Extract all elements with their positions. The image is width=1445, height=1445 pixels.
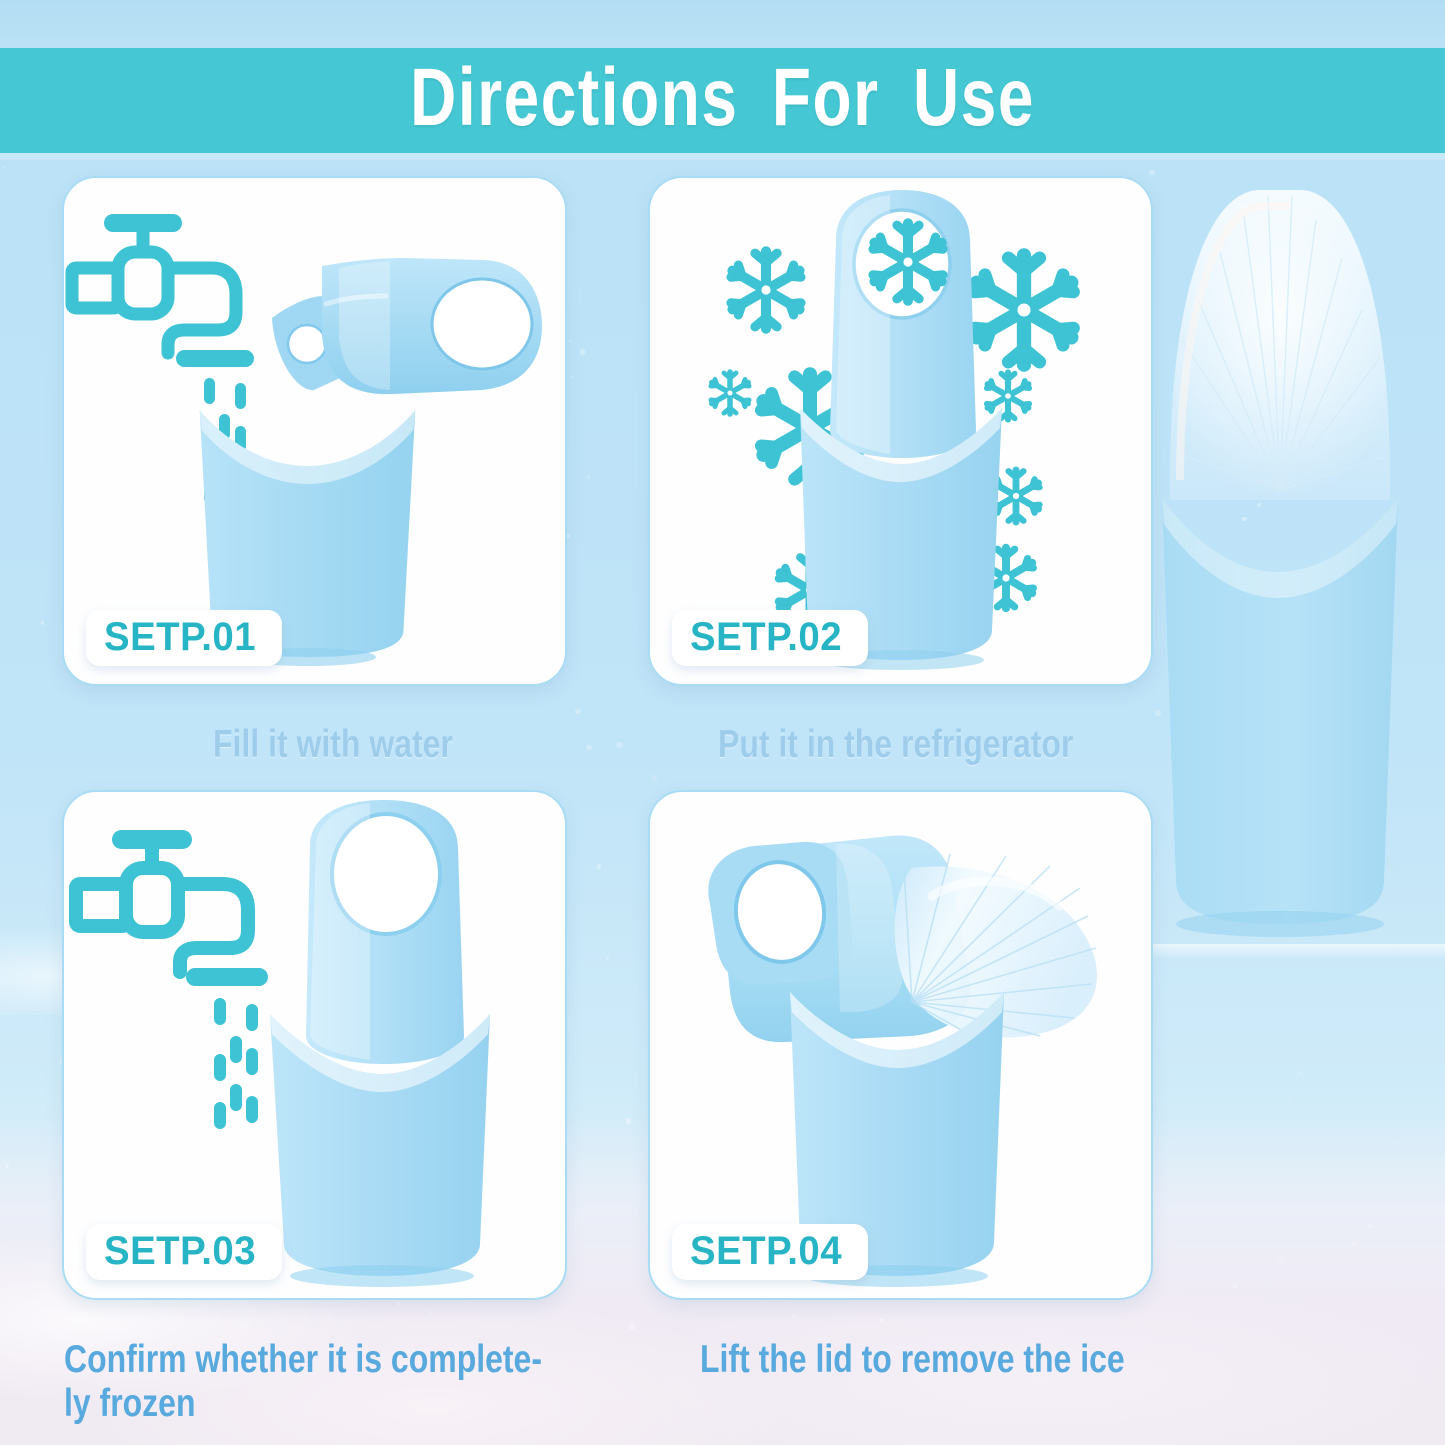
ice-pop-icon xyxy=(1170,190,1390,500)
step-3-badge-label: SETP.03 xyxy=(104,1231,256,1271)
header-band: Directions For Use xyxy=(0,48,1445,153)
faucet-icon xyxy=(72,214,254,367)
step-3-illustration xyxy=(64,792,565,1298)
step-2-caption: Put it in the refrigerator xyxy=(718,723,1073,767)
step-2-badge-label: SETP.02 xyxy=(690,617,842,657)
step-4-badge-label: SETP.04 xyxy=(690,1231,842,1271)
step-1-illustration xyxy=(64,178,565,684)
mold-cup-icon xyxy=(1162,498,1398,937)
step-4-badge: SETP.04 xyxy=(672,1224,868,1280)
hero-product-svg xyxy=(1140,180,1440,970)
step-1-badge: SETP.01 xyxy=(86,610,282,666)
step-card-4[interactable]: SETP.04 xyxy=(648,790,1153,1300)
faucet-icon xyxy=(76,830,268,986)
hero-product-photo xyxy=(1140,180,1440,970)
step-card-1[interactable]: SETP.01 xyxy=(62,176,567,686)
page-title: Directions For Use xyxy=(410,57,1035,145)
step-card-2[interactable]: SETP.02 xyxy=(648,176,1153,686)
step-1-badge-label: SETP.01 xyxy=(104,617,256,657)
assembled-mold-icon xyxy=(270,800,490,1287)
mold-lid-icon xyxy=(272,258,542,394)
step-3-badge: SETP.03 xyxy=(86,1224,282,1280)
step-card-3[interactable]: SETP.03 xyxy=(62,790,567,1300)
step-1-caption: Fill it with water xyxy=(213,723,453,767)
step-4-caption: Lift the lid to remove the ice xyxy=(700,1338,1125,1382)
step-2-badge: SETP.02 xyxy=(672,610,868,666)
step-2-illustration xyxy=(650,178,1151,684)
step-4-illustration xyxy=(650,792,1151,1298)
water-drops-icon xyxy=(214,998,258,1129)
step-3-caption: Confirm whether it is complete- ly froze… xyxy=(64,1338,542,1427)
